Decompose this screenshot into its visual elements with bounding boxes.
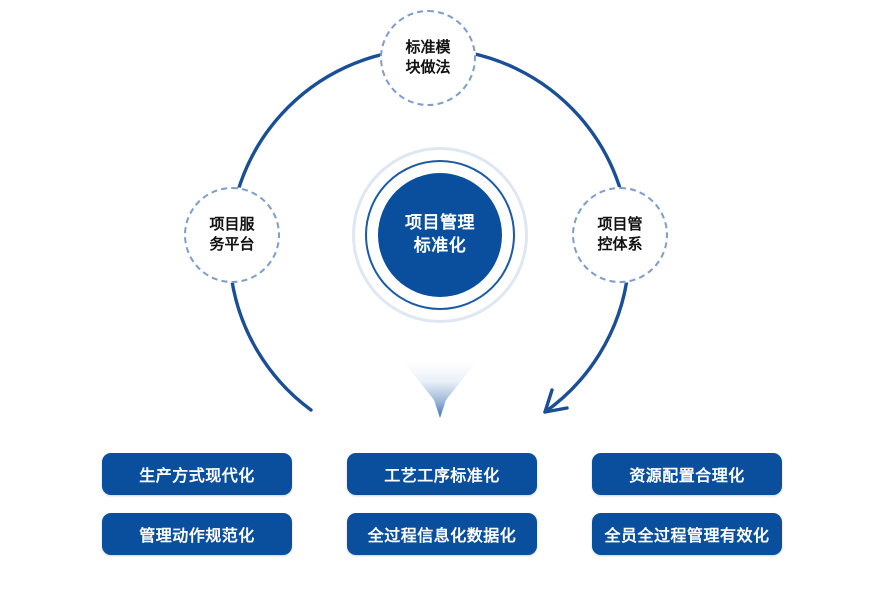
outcome-box-grid: 生产方式现代化 工艺工序标准化 资源配置合理化 管理动作规范化 全过程信息化数据… (0, 453, 884, 573)
outcome-box[interactable]: 全过程信息化数据化 (347, 513, 537, 555)
node-label-right: 项目管 控体系 (597, 215, 642, 256)
node-circle-left[interactable]: 项目服 务平台 (184, 187, 280, 283)
outcome-row-1: 生产方式现代化 工艺工序标准化 资源配置合理化 (0, 453, 884, 495)
center-hub: 项目管理 标准化 (352, 147, 528, 323)
down-arrow-icon (400, 360, 480, 422)
outcome-box[interactable]: 全员全过程管理有效化 (592, 513, 782, 555)
outcome-box[interactable]: 生产方式现代化 (102, 453, 292, 495)
node-circle-right[interactable]: 项目管 控体系 (572, 187, 668, 283)
outcome-box[interactable]: 资源配置合理化 (592, 453, 782, 495)
arc-arrowhead-icon (545, 390, 567, 412)
node-label-left: 项目服 务平台 (209, 215, 254, 256)
hub-label: 项目管理 标准化 (405, 212, 475, 258)
outcome-box[interactable]: 管理动作规范化 (102, 513, 292, 555)
outcome-row-2: 管理动作规范化 全过程信息化数据化 全员全过程管理有效化 (0, 513, 884, 555)
diagram-canvas: 项目管理 标准化 标准模 块做法 项目服 务平台 项目管 控体系 生产方式现代化… (0, 0, 884, 590)
outcome-box[interactable]: 工艺工序标准化 (347, 453, 537, 495)
node-label-top: 标准模 块做法 (405, 38, 450, 79)
hub-disc[interactable]: 项目管理 标准化 (378, 173, 502, 297)
node-circle-top[interactable]: 标准模 块做法 (380, 10, 476, 106)
